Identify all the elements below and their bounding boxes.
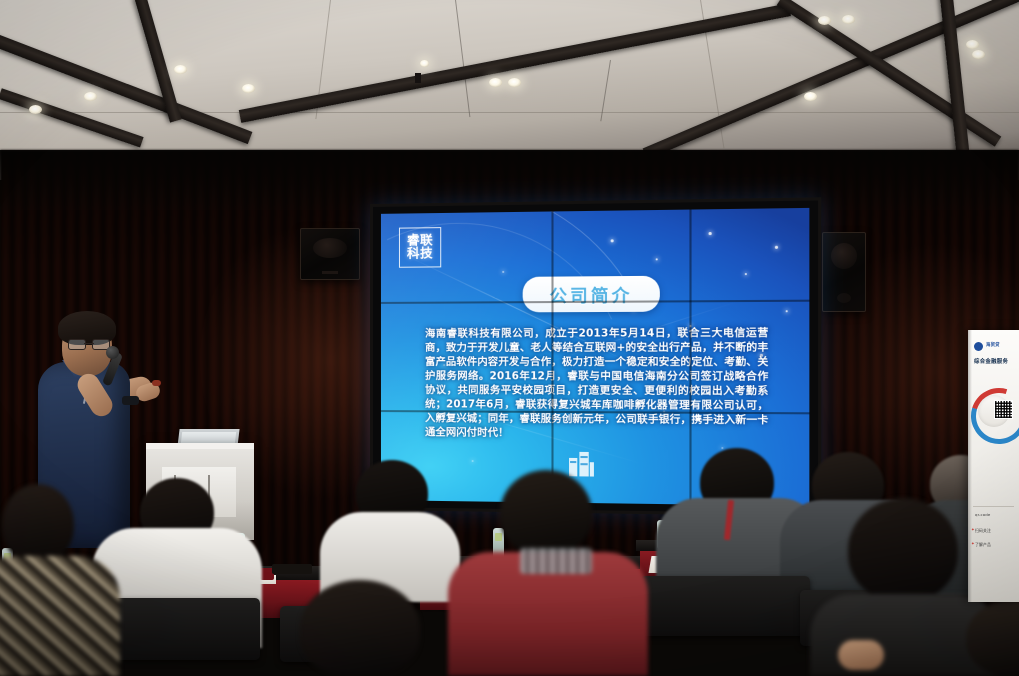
slide-logo: 睿联 科技 bbox=[399, 227, 441, 268]
wall-speaker-left bbox=[300, 228, 360, 280]
audience-head bbox=[500, 470, 592, 556]
banner-logo-icon bbox=[974, 342, 983, 351]
ceiling-spotlight bbox=[84, 92, 97, 101]
ceiling-beam bbox=[0, 24, 252, 144]
panel-seam bbox=[689, 210, 691, 505]
banner-qr-code bbox=[994, 400, 1013, 419]
ceiling-spotlight bbox=[966, 40, 979, 49]
ceiling-spotlight bbox=[242, 84, 255, 93]
ceiling-spotlight bbox=[174, 65, 187, 74]
audience-head bbox=[300, 580, 420, 676]
rollup-banner: 海贸贷 综合金融服务 qr-code ✦ 扫码关注 ✦ 了解产品 bbox=[968, 330, 1019, 602]
photo-scene: 睿联 科技 公司简介 海南睿联科技有限公司，成立于2013年5月14日，联合三大… bbox=[0, 0, 1019, 676]
panel-seam bbox=[551, 211, 553, 502]
slide-watermark-icon bbox=[569, 452, 594, 477]
presenter-glasses bbox=[68, 339, 110, 348]
chair bbox=[640, 576, 810, 636]
presenter-watch bbox=[122, 396, 139, 405]
slide-body-text: 海南睿联科技有限公司，成立于2013年5月14日，联合三大电信运营商，致力于开发… bbox=[425, 327, 768, 443]
ceiling-beam bbox=[0, 88, 144, 147]
microphone-head bbox=[106, 346, 119, 359]
wall-speaker-right bbox=[822, 232, 866, 312]
audience-head bbox=[2, 484, 74, 564]
ceiling-spotlight bbox=[818, 16, 831, 25]
banner-item: 扫码关注 bbox=[975, 528, 991, 534]
ceiling-spotlight bbox=[508, 78, 521, 87]
banner-headline: 综合金融服务 bbox=[974, 357, 1016, 365]
ceiling-mini-light bbox=[420, 60, 429, 67]
ceiling-spotlight bbox=[29, 105, 42, 114]
banner-qr-caption: qr-code bbox=[975, 512, 990, 517]
banner-brand: 海贸贷 bbox=[986, 342, 1000, 348]
ceiling-spotlight bbox=[842, 15, 855, 24]
ceiling-spotlight bbox=[489, 78, 502, 87]
audience-head bbox=[848, 498, 958, 602]
slide-logo-line2: 科技 bbox=[407, 247, 433, 260]
ceiling-spotlight bbox=[972, 50, 985, 59]
chair bbox=[100, 598, 260, 660]
ceiling-spotlight bbox=[804, 92, 817, 101]
slide-title-pill: 公司简介 bbox=[523, 276, 660, 313]
slide-title: 公司简介 bbox=[549, 286, 632, 307]
audience-torso bbox=[0, 556, 120, 676]
banner-item: 了解产品 bbox=[975, 542, 991, 548]
